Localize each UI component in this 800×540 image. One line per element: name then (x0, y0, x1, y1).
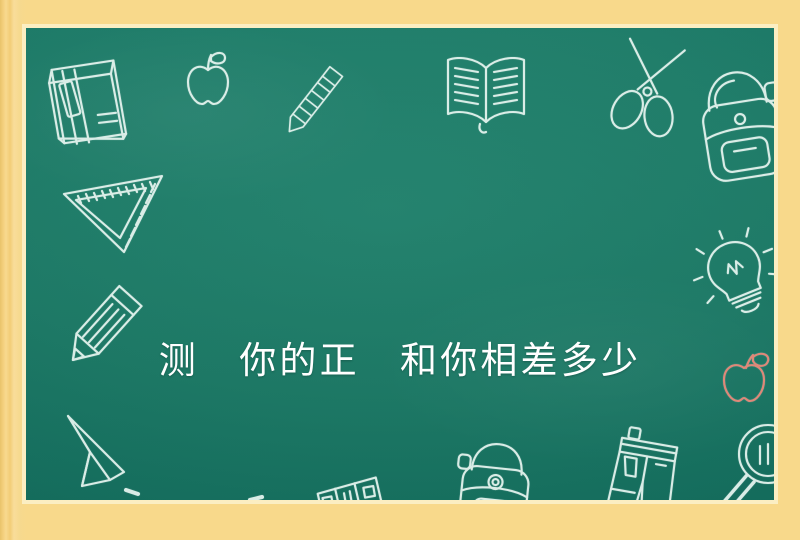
scissors-icon (602, 34, 698, 144)
headline-line-1: 测 你的正 和你相差多少 (26, 332, 774, 390)
open-book-icon (438, 44, 534, 140)
board-inner-outline: 测 你的正 和你相差多少 岁，十二星座的恋人都和你相 (22, 24, 778, 504)
backpack-icon (686, 62, 774, 188)
crayon-icon (264, 50, 364, 150)
headline-text: 测 你的正 和你相差多少 岁，十二星座的恋人都和你相 (26, 216, 774, 500)
chalkboard-slate: 测 你的正 和你相差多少 岁，十二星座的恋人都和你相 (26, 28, 774, 500)
apple-icon (180, 48, 236, 110)
book-stack-icon (32, 42, 152, 162)
board-frame: 测 你的正 和你相差多少 岁，十二星座的恋人都和你相 (0, 0, 800, 540)
